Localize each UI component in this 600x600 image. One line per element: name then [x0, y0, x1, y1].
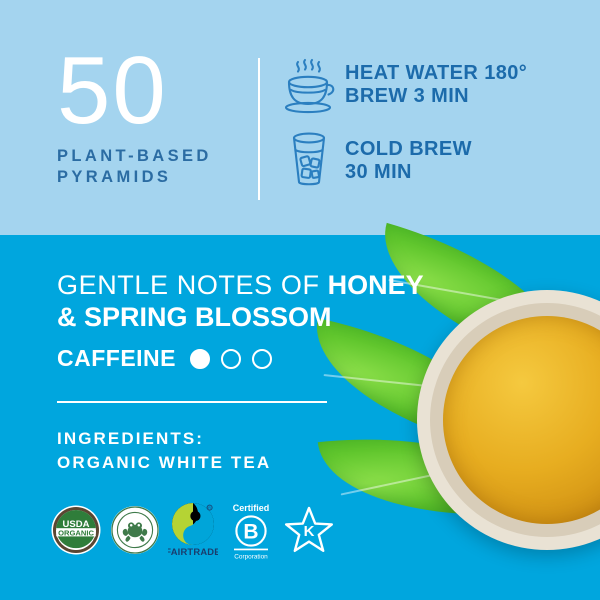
caffeine-dot-3 [252, 349, 272, 369]
caffeine-dot-2 [221, 349, 241, 369]
tasting-notes-line1: GENTLE NOTES OF HONEY [57, 269, 357, 301]
pyramid-count-caption-line1: PLANT-BASED [57, 146, 247, 167]
brew-instructions-list: HEAT WATER 180° BREW 3 MIN [279, 54, 589, 206]
brew-method-hot-line1: HEAT WATER 180° [345, 62, 527, 84]
horizontal-divider [57, 401, 327, 403]
brew-method-hot-text: HEAT WATER 180° BREW 3 MIN [345, 62, 527, 108]
brew-method-cold-text: COLD BREW 30 MIN [345, 138, 472, 184]
pyramid-count-number: 50 [57, 48, 247, 134]
vertical-divider [258, 58, 260, 200]
b-corp-logo: Certified B Corporation [225, 500, 277, 560]
fairtrade-label: FAIRTRADE [168, 546, 218, 557]
fairtrade-mark: R FAIRTRADE [168, 501, 218, 559]
brew-method-hot: HEAT WATER 180° BREW 3 MIN [279, 54, 589, 116]
b-corp-letter: B [243, 520, 258, 543]
tasting-notes: GENTLE NOTES OF HONEY & SPRING BLOSSOM [57, 269, 357, 333]
tasting-notes-line2: & SPRING BLOSSOM [57, 301, 357, 333]
hot-teacup-icon [279, 54, 341, 116]
ingredients-value: ORGANIC WHITE TEA [57, 451, 357, 475]
caffeine-dots [190, 349, 283, 369]
tasting-notes-prefix: GENTLE NOTES OF [57, 270, 328, 300]
rainforest-alliance-ring-text: RAINFOREST ALLIANCE [109, 504, 161, 505]
caffeine-label: CAFFEINE [57, 345, 176, 372]
brew-method-cold-line2: 30 MIN [345, 161, 472, 184]
star-k-kosher-symbol: K [284, 505, 334, 555]
svg-text:R: R [208, 506, 211, 510]
brew-method-cold: COLD BREW 30 MIN [279, 130, 589, 192]
brew-method-cold-line1: COLD BREW [345, 138, 472, 160]
caffeine-meter: CAFFEINE [57, 345, 283, 372]
tea-package-label: 50 PLANT-BASED PYRAMIDS [0, 0, 600, 600]
brewing-info-panel: 50 PLANT-BASED PYRAMIDS [0, 0, 600, 235]
rainforest-alliance-seal: RAINFOREST ALLIANCE [109, 504, 161, 556]
tasting-notes-blossom: & SPRING BLOSSOM [57, 302, 332, 332]
caffeine-dot-1 [190, 349, 210, 369]
brew-method-hot-line2: BREW 3 MIN [345, 85, 527, 108]
pyramid-count-caption-line2: PYRAMIDS [57, 167, 247, 188]
ingredients-heading: INGREDIENTS: [57, 427, 357, 451]
certification-badges: USDA ORGANIC RAINFOREST ALLIANCE [50, 500, 341, 560]
star-k-letter: K [304, 523, 315, 540]
product-details-panel: GENTLE NOTES OF HONEY & SPRING BLOSSOM C… [0, 235, 600, 600]
pyramid-count-caption: PLANT-BASED PYRAMIDS [57, 146, 247, 188]
b-corp-certified-text: Certified [233, 503, 270, 513]
b-corp-corporation-text: Corporation [234, 553, 268, 560]
tasting-notes-honey: HONEY [328, 270, 424, 300]
usda-organic-seal: USDA ORGANIC [50, 504, 102, 556]
iced-glass-icon [279, 130, 341, 192]
pyramid-count-block: 50 PLANT-BASED PYRAMIDS [57, 48, 247, 188]
ingredients-block: INGREDIENTS: ORGANIC WHITE TEA [57, 427, 357, 475]
usda-organic-line2: ORGANIC [58, 529, 94, 538]
